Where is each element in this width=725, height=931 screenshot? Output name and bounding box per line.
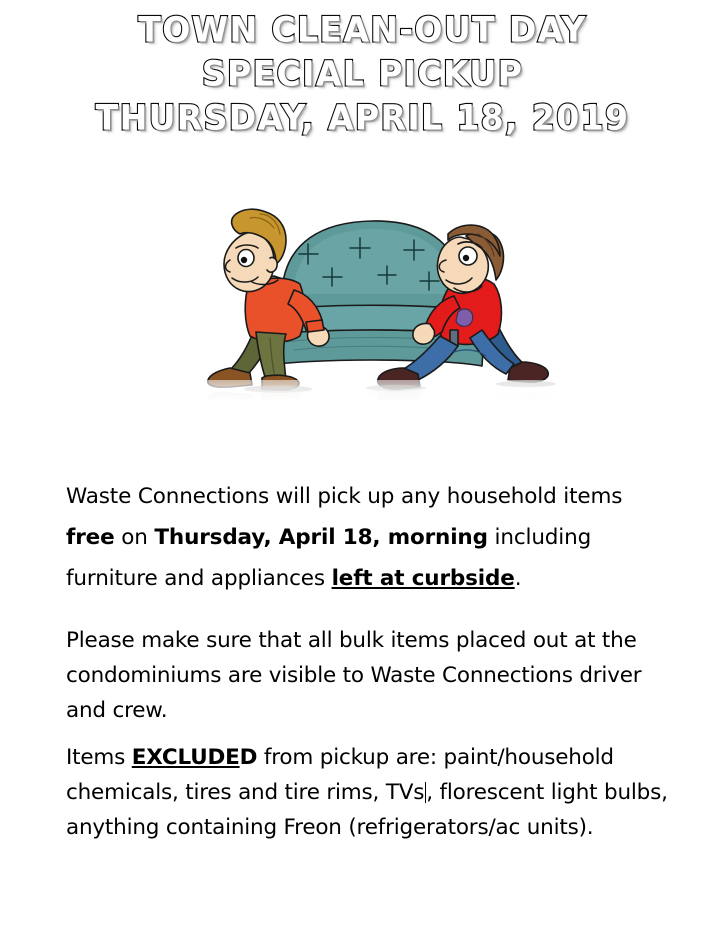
flyer-title: TOWN CLEAN-OUT DAY SPECIAL PICKUP THURSD…	[0, 8, 725, 140]
title-line-3: THURSDAY, APRIL 18, 2019	[0, 95, 725, 141]
paragraph-visibility-notice: Please make sure that all bulk items pla…	[66, 623, 676, 728]
p1-bold-free: free	[66, 525, 115, 550]
p1-segment-2: on	[115, 525, 155, 550]
title-line-1: TOWN CLEAN-OUT DAY	[0, 7, 725, 53]
p1-bold-underline-curbside: left at curbside	[332, 566, 515, 591]
p1-bold-date: Thursday, April 18, morning	[154, 525, 487, 550]
title-line-2: SPECIAL PICKUP	[0, 51, 725, 97]
p1-segment-4: .	[515, 566, 522, 591]
p3-bold-underline-exclude: EXCLUDE	[132, 745, 240, 770]
flyer-body: Waste Connections will pick up any house…	[66, 476, 676, 845]
p3-bold-d: D	[240, 745, 258, 770]
p1-segment-1: Waste Connections will pick up any house…	[66, 484, 622, 509]
two-men-carrying-couch-illustration	[182, 190, 562, 402]
couch-movers-artwork	[182, 190, 562, 402]
paragraph-excluded-items: Items EXCLUDED from pickup are: paint/ho…	[66, 740, 676, 845]
paragraph-pickup-details: Waste Connections will pick up any house…	[66, 476, 676, 599]
p3-segment-1: Items	[66, 745, 132, 770]
